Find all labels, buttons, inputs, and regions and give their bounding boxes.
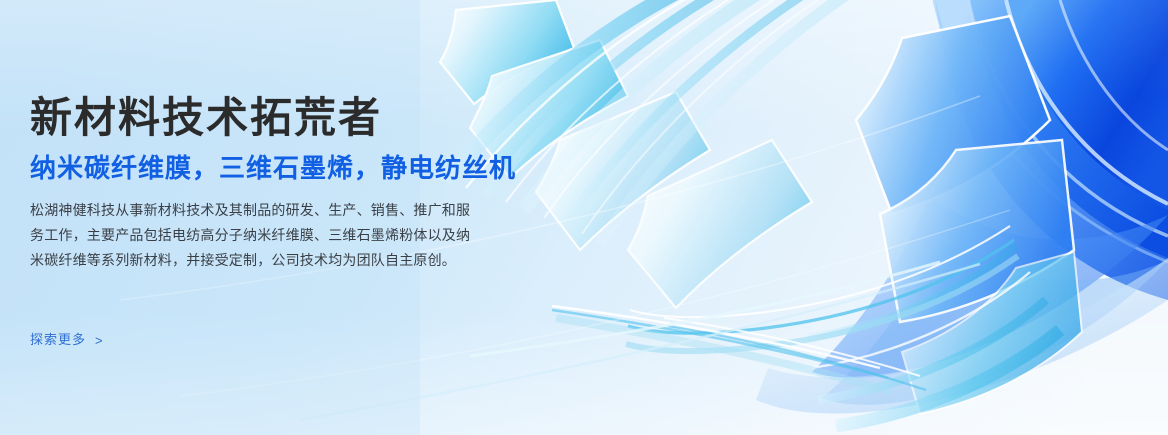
- hero-banner: 新材料技术拓荒者 纳米碳纤维膜，三维石墨烯，静电纺丝机 松湖神健科技从事新材料技…: [0, 0, 1168, 435]
- description-line-1: 松湖神健科技从事新材料技术及其制品的研发、生产、销售、推广和服: [30, 198, 530, 223]
- description-line-2: 务工作，主要产品包括电纺高分子纳米纤维膜、三维石墨烯粉体以及纳: [30, 223, 530, 248]
- page-title: 新材料技术拓荒者: [30, 92, 382, 144]
- explore-more-link[interactable]: 探索更多 >: [30, 330, 104, 350]
- banner-description: 松湖神健科技从事新材料技术及其制品的研发、生产、销售、推广和服 务工作，主要产品…: [30, 198, 530, 273]
- explore-more-label: 探索更多: [30, 330, 86, 350]
- banner-subtitle: 纳米碳纤维膜，三维石墨烯，静电纺丝机: [30, 151, 516, 185]
- chevron-right-icon: >: [95, 334, 104, 347]
- description-line-3: 米碳纤维等系列新材料，并接受定制，公司技术均为团队自主原创。: [30, 248, 530, 273]
